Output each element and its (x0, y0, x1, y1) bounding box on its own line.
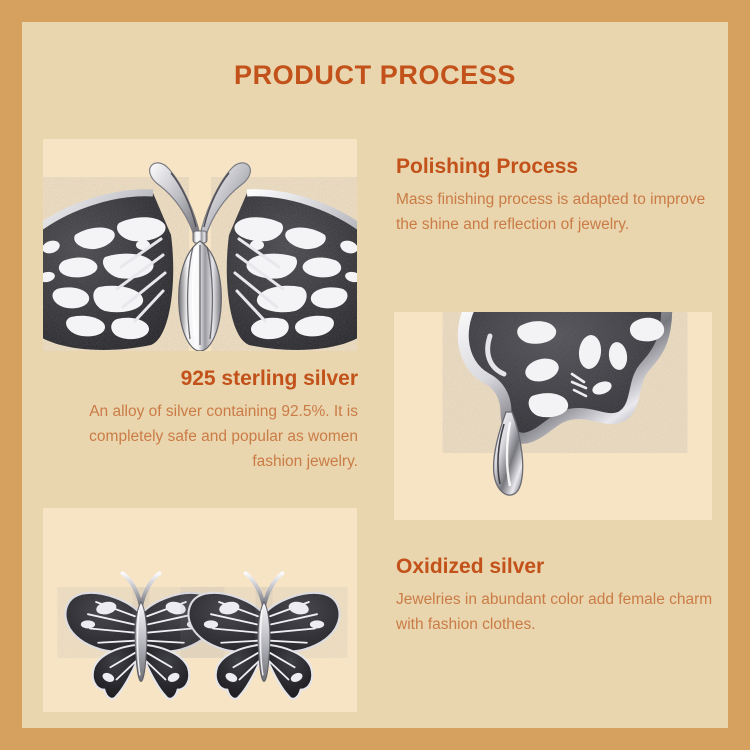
heading-sterling-silver: 925 sterling silver (36, 367, 358, 390)
body-polishing: Mass finishing process is adapted to imp… (396, 187, 714, 237)
butterfly-body-antennae-closeup-image (43, 139, 357, 351)
text-block-polishing: Polishing Process Mass finishing process… (396, 155, 714, 237)
heading-oxidized-silver: Oxidized silver (396, 555, 714, 578)
text-block-sterling-silver: 925 sterling silver An alloy of silver c… (36, 367, 358, 474)
page-title: PRODUCT PROCESS (22, 60, 728, 91)
heading-polishing: Polishing Process (396, 155, 714, 178)
butterfly-stud-earrings-pair-image (43, 508, 357, 712)
infographic-frame: PRODUCT PROCESS (22, 22, 728, 728)
image-panel-polishing-process (394, 312, 712, 520)
image-panel-sterling-silver (43, 139, 357, 351)
image-panel-oxidized-silver (43, 508, 357, 712)
text-block-oxidized-silver: Oxidized silver Jewelries in abundant co… (396, 555, 714, 637)
body-sterling-silver: An alloy of silver containing 92.5%. It … (36, 399, 358, 474)
body-oxidized-silver: Jewelries in abundant color add female c… (396, 587, 714, 637)
polished-silver-wing-closeup-image (394, 312, 712, 520)
